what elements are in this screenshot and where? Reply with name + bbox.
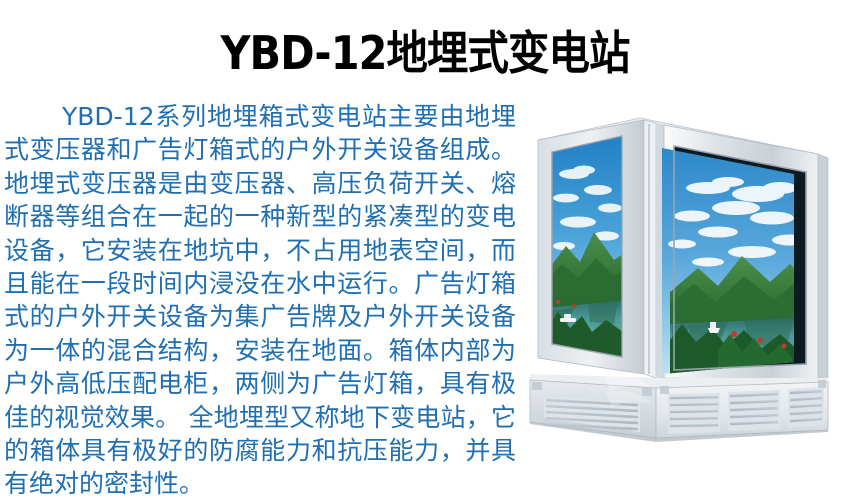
- cabinet-left-face: [538, 120, 644, 374]
- louver-panel-right-1: [668, 393, 720, 434]
- product-photo: 川大汇通 CHUANDAHUITONG: [522, 112, 842, 442]
- page-title: YBD-12地埋式变电站: [43, 25, 808, 81]
- cabinet-base: [530, 374, 828, 442]
- cabinet-right-face: [660, 125, 828, 380]
- page-root: YBD-12地埋式变电站 YBD-12系列地埋箱式变电站主要由地埋式变压器和广告…: [0, 0, 850, 503]
- right-light-box: [660, 140, 810, 380]
- description-paragraph: YBD-12系列地埋箱式变电站主要由地埋式变压器和广告灯箱式的户外开关设备组成。…: [4, 100, 516, 501]
- louver-panel-right-3: [788, 387, 824, 428]
- product-description: YBD-12系列地埋箱式变电站主要由地埋式变压器和广告灯箱式的户外开关设备组成。…: [4, 100, 516, 501]
- cabinet-corner-post: [644, 120, 664, 378]
- product-photo-illustration: [522, 112, 842, 442]
- left-light-box: [548, 132, 626, 362]
- louver-panel-right-2: [728, 390, 780, 431]
